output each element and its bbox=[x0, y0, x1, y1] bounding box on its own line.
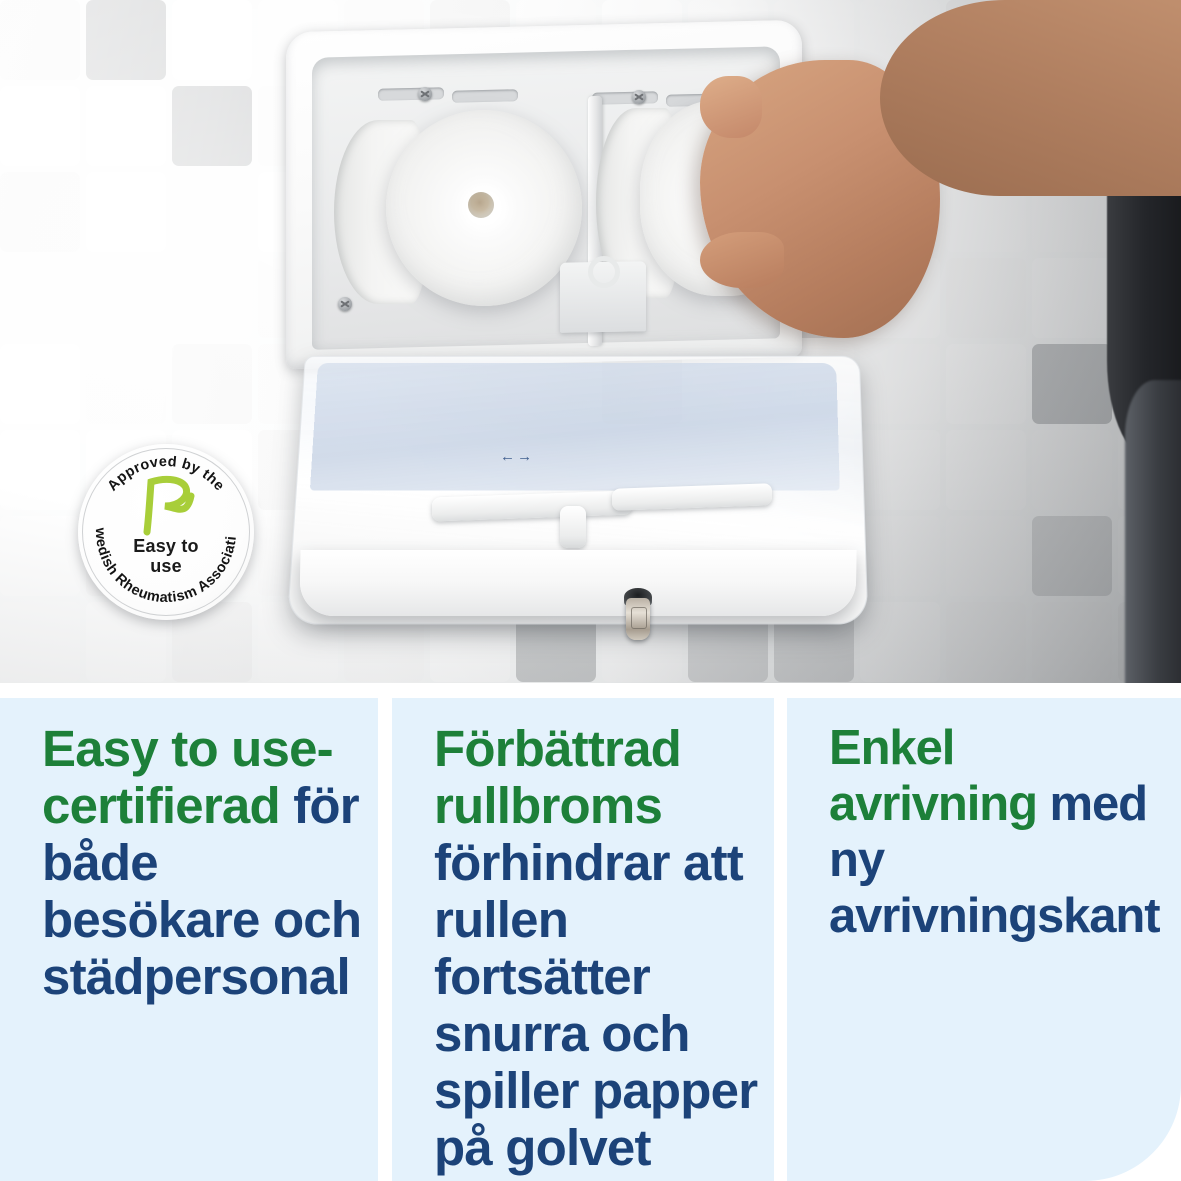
mounting-screw-bottom bbox=[338, 297, 352, 311]
mounting-slot-left-2 bbox=[452, 89, 518, 103]
certification-seal: Approved by the Swedish Rheumatism Assoc… bbox=[78, 444, 254, 620]
feature-headline-3: Enkel avrivning med ny avrivningskant bbox=[829, 720, 1167, 944]
feature-rest-2: förhindrar att rullen fortsätter snurra … bbox=[434, 834, 757, 1176]
seal-center-text: Easy to use bbox=[78, 536, 254, 576]
wall-tile bbox=[946, 344, 1026, 424]
wall-tile bbox=[946, 258, 1026, 338]
wall-tile bbox=[1032, 516, 1112, 596]
wall-tile bbox=[0, 516, 80, 596]
feature-headline-1: Easy to use-certifierad för både besökar… bbox=[42, 720, 364, 1005]
wall-tile bbox=[0, 602, 80, 682]
wall-tile bbox=[86, 344, 166, 424]
wall-tile bbox=[946, 602, 1026, 682]
wall-tile bbox=[86, 86, 166, 166]
wall-tile bbox=[86, 172, 166, 252]
wall-tile bbox=[0, 172, 80, 252]
feature-headline-2: Förbättrad rullbroms förhindrar att rull… bbox=[434, 720, 760, 1176]
seal-center-line-1: Easy to bbox=[78, 536, 254, 556]
wall-tile bbox=[0, 86, 80, 166]
feature-panel-easy-to-use: Easy to use-certifierad för både besökar… bbox=[0, 698, 378, 1181]
product-photo: Approved by the Swedish Rheumatism Assoc… bbox=[0, 0, 1181, 683]
seal-center-line-2: use bbox=[78, 556, 254, 576]
fingers bbox=[700, 232, 784, 288]
wall-tile bbox=[172, 0, 252, 80]
wall-tile bbox=[1032, 430, 1112, 510]
mounting-slot-left bbox=[378, 87, 444, 101]
feature-panel-roll-brake: Förbättrad rullbroms förhindrar att rull… bbox=[392, 698, 774, 1181]
feature-highlight-3: Enkel avrivning bbox=[829, 721, 1037, 831]
wall-tile bbox=[172, 258, 252, 338]
wall-tile bbox=[1032, 602, 1112, 682]
key-icon[interactable] bbox=[626, 598, 650, 640]
feature-panels: Easy to use-certifierad för både besökar… bbox=[0, 698, 1181, 1181]
thumb bbox=[700, 76, 762, 138]
wall-tile bbox=[1032, 258, 1112, 338]
roll-brake-loop bbox=[588, 256, 620, 288]
dispenser-cover-bottom-lip bbox=[299, 550, 856, 616]
wall-tile bbox=[86, 258, 166, 338]
wall-tile bbox=[0, 344, 80, 424]
wall-tile bbox=[0, 258, 80, 338]
wall-tile bbox=[0, 0, 80, 80]
mounting-screw-right bbox=[632, 90, 646, 104]
wall-tile bbox=[172, 172, 252, 252]
tear-edge-center-post bbox=[560, 506, 586, 548]
slide-direction-arrow-icon: ← → bbox=[500, 452, 558, 462]
wall-tile bbox=[86, 0, 166, 80]
wall-tile bbox=[172, 86, 252, 166]
feature-panel-easy-tear: Enkel avrivning med ny avrivningskant bbox=[787, 698, 1181, 1181]
wall-tile bbox=[1032, 344, 1112, 424]
wall-tile bbox=[946, 430, 1026, 510]
paper-roll-left-core bbox=[468, 192, 494, 218]
wall-tile bbox=[946, 516, 1026, 596]
forearm bbox=[880, 0, 1181, 196]
feature-highlight-1: Easy to use-certifierad bbox=[42, 720, 333, 834]
wall-tile bbox=[0, 430, 80, 510]
mounting-screw-left bbox=[418, 87, 432, 101]
feature-highlight-2: Förbättrad rullbroms bbox=[434, 720, 681, 834]
product-feature-graphic: Approved by the Swedish Rheumatism Assoc… bbox=[0, 0, 1181, 1181]
dispenser-refill-window bbox=[310, 363, 840, 490]
rheumatism-association-r-icon bbox=[133, 474, 199, 536]
wall-tile bbox=[172, 344, 252, 424]
person-lower-silhouette bbox=[1125, 380, 1181, 683]
